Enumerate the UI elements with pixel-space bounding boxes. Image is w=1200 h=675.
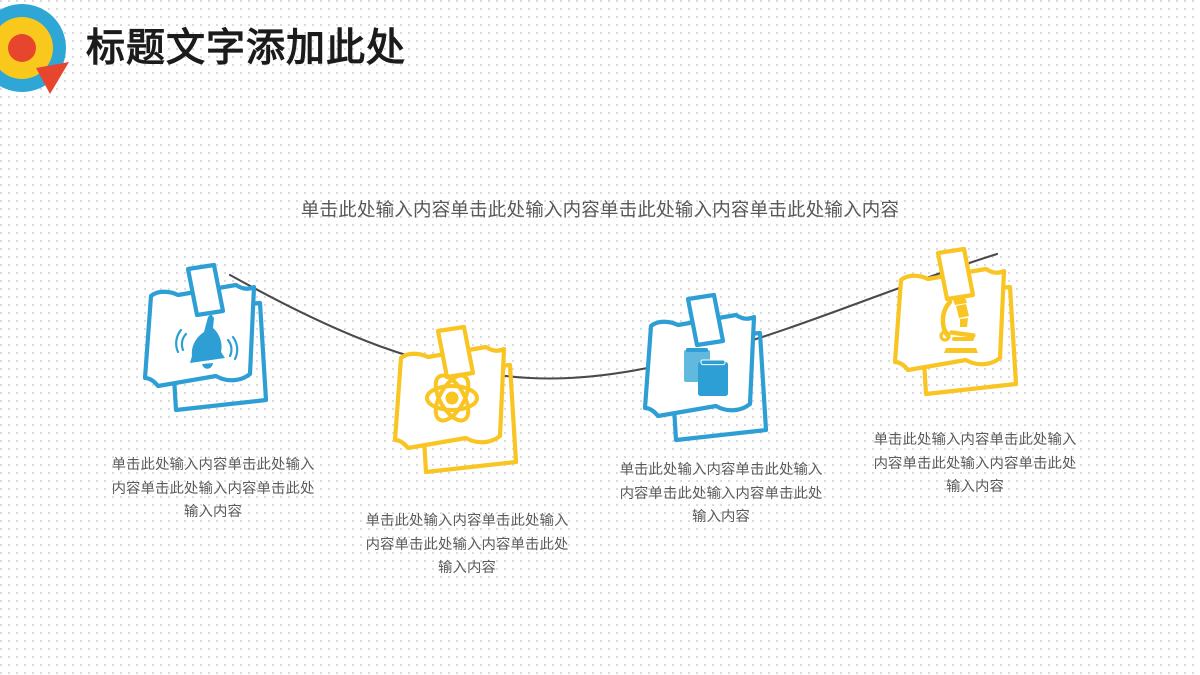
target-logo [0, 2, 82, 106]
slide-canvas: 标题文字添加此处 单击此处输入内容单击此处输入内容单击此处输入内容单击此处输入内… [0, 0, 1200, 675]
subtitle-text: 单击此处输入内容单击此处输入内容单击此处输入内容单击此处输入内容 [0, 196, 1200, 224]
card-atom[interactable] [390, 330, 540, 480]
card-books[interactable] [640, 298, 790, 448]
card-caption: 单击此处输入内容单击此处输入内容单击此处输入内容单击此处输入内容 [616, 459, 826, 530]
page-title: 标题文字添加此处 [86, 24, 406, 74]
target-center-dot [8, 34, 36, 62]
slide-header: 标题文字添加此处 [0, 0, 1200, 110]
string-path [230, 254, 997, 379]
card-caption: 单击此处输入内容单击此处输入内容单击此处输入内容单击此处输入内容 [870, 429, 1080, 500]
card-caption: 单击此处输入内容单击此处输入内容单击此处输入内容单击此处输入内容 [362, 510, 572, 581]
card-caption: 单击此处输入内容单击此处输入内容单击此处输入内容单击此处输入内容 [108, 454, 318, 525]
card-microscope[interactable] [890, 252, 1040, 402]
card-bell[interactable] [140, 268, 290, 418]
